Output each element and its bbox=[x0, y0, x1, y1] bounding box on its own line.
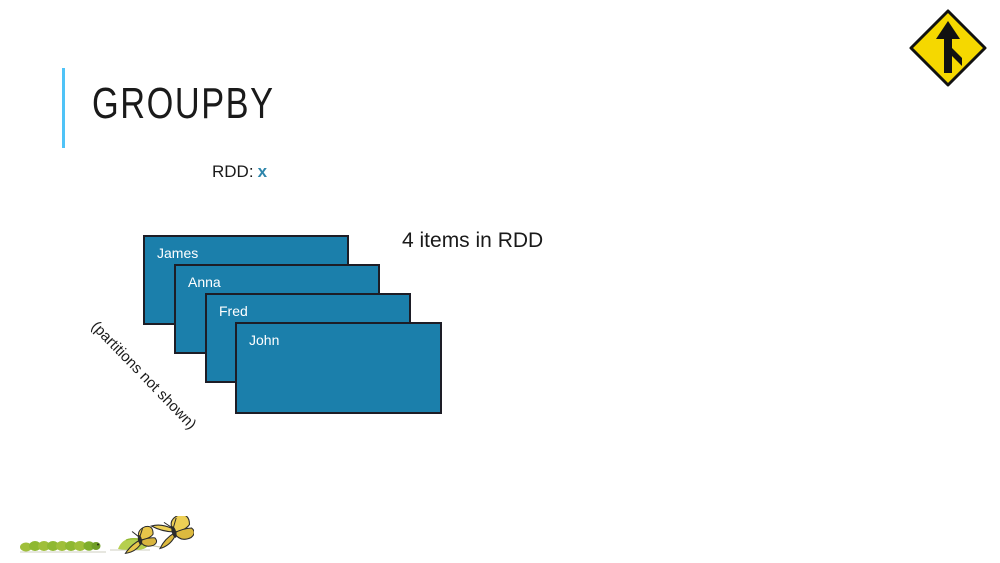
rdd-variable-name: x bbox=[258, 162, 267, 181]
rdd-item-label: Fred bbox=[219, 302, 248, 320]
rdd-item-label: Anna bbox=[188, 273, 221, 291]
rdd-label: RDD:x bbox=[212, 162, 267, 182]
slide-canvas: GROUPBY RDD:x James Anna Fred John (part… bbox=[0, 0, 1000, 563]
caterpillar-to-butterfly-icon bbox=[14, 516, 194, 562]
page-title: GROUPBY bbox=[92, 74, 275, 134]
items-count-caption: 4 items in RDD bbox=[402, 229, 543, 253]
rdd-item-label: James bbox=[157, 244, 198, 262]
rdd-label-prefix: RDD: bbox=[212, 162, 254, 181]
rdd-item-card: John bbox=[235, 322, 442, 414]
title-accent-bar bbox=[62, 68, 65, 148]
merge-road-sign-icon bbox=[908, 8, 988, 88]
rdd-item-label: John bbox=[249, 331, 279, 349]
